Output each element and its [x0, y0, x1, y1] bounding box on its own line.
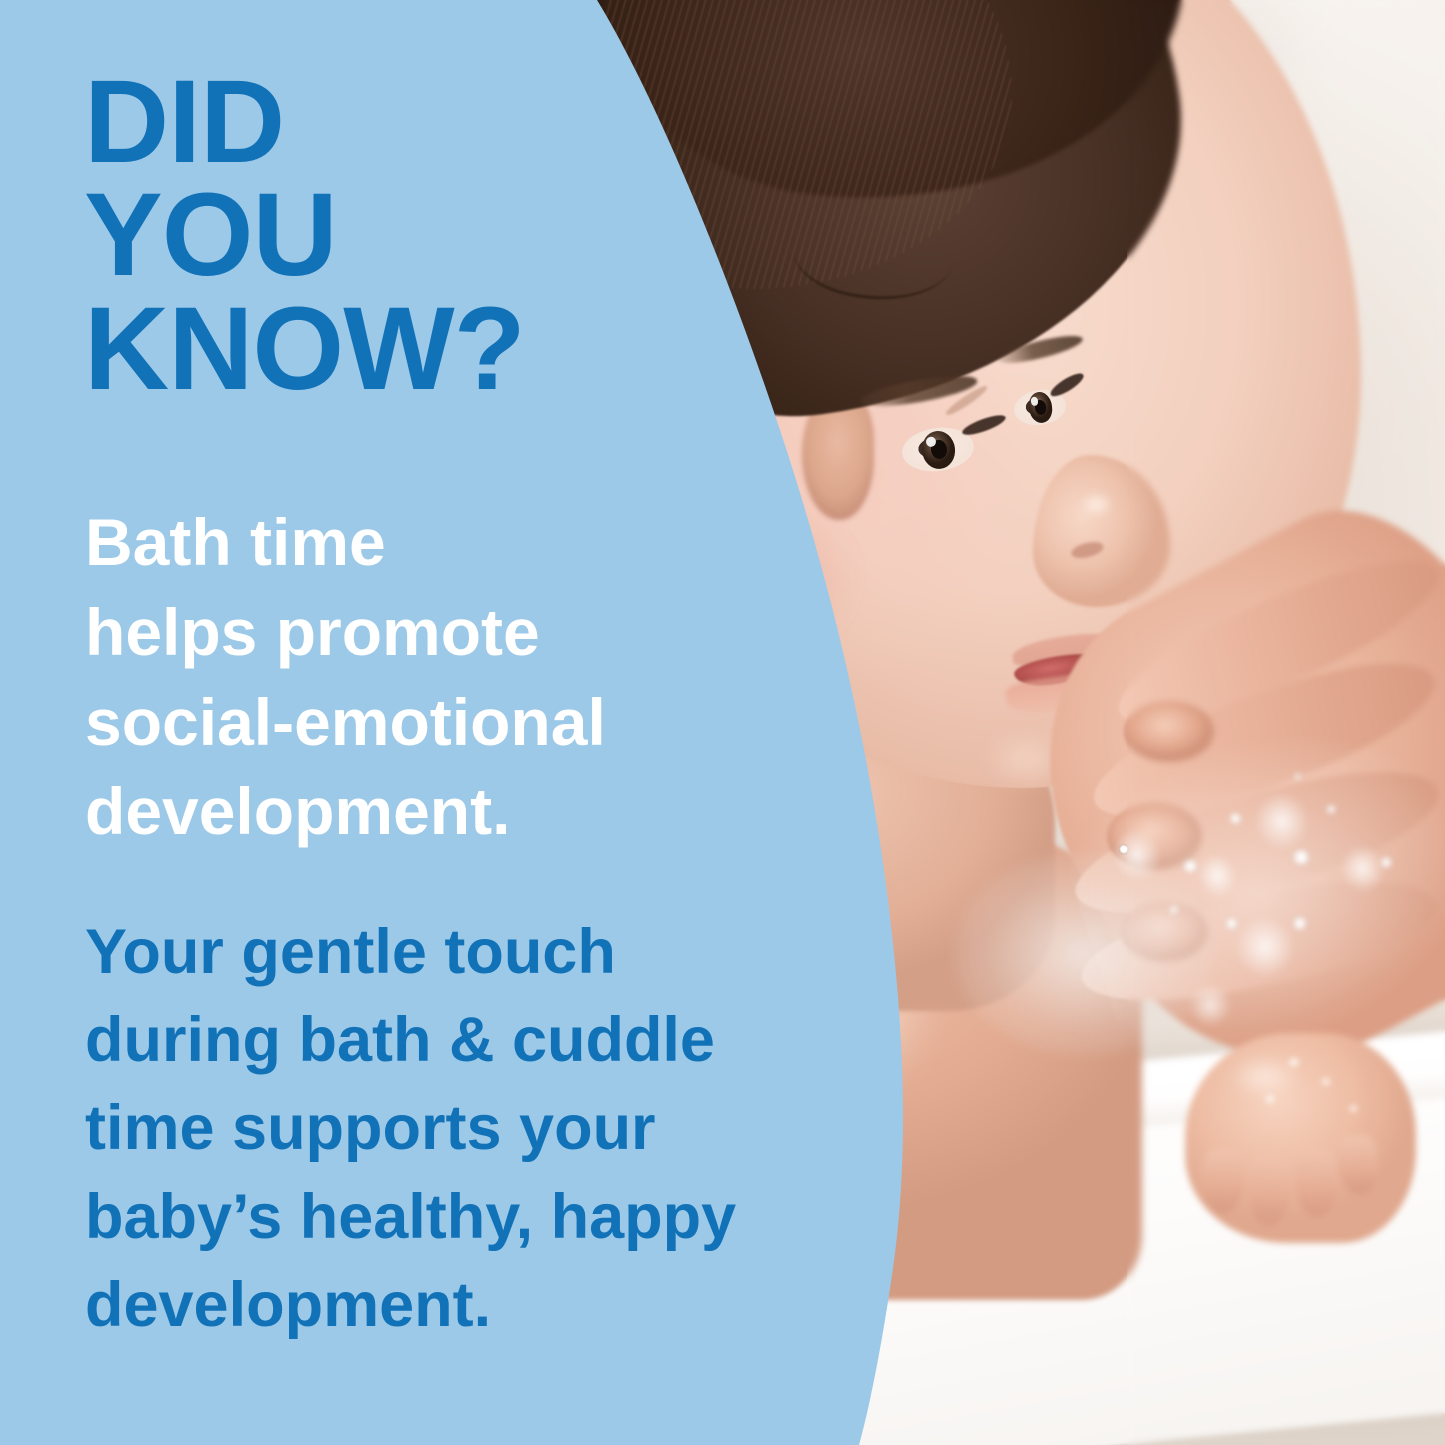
supporting-statement: Your gentle touch during bath & cuddle t…	[85, 908, 875, 1349]
page-title: DID YOU KNOW?	[84, 66, 704, 406]
fact-statement: Bath time helps promote social-emotional…	[85, 498, 705, 857]
did-you-know-poster: DID YOU KNOW? Bath time helps promote so…	[0, 0, 1445, 1445]
poster-text-content: DID YOU KNOW? Bath time helps promote so…	[0, 0, 1445, 1445]
